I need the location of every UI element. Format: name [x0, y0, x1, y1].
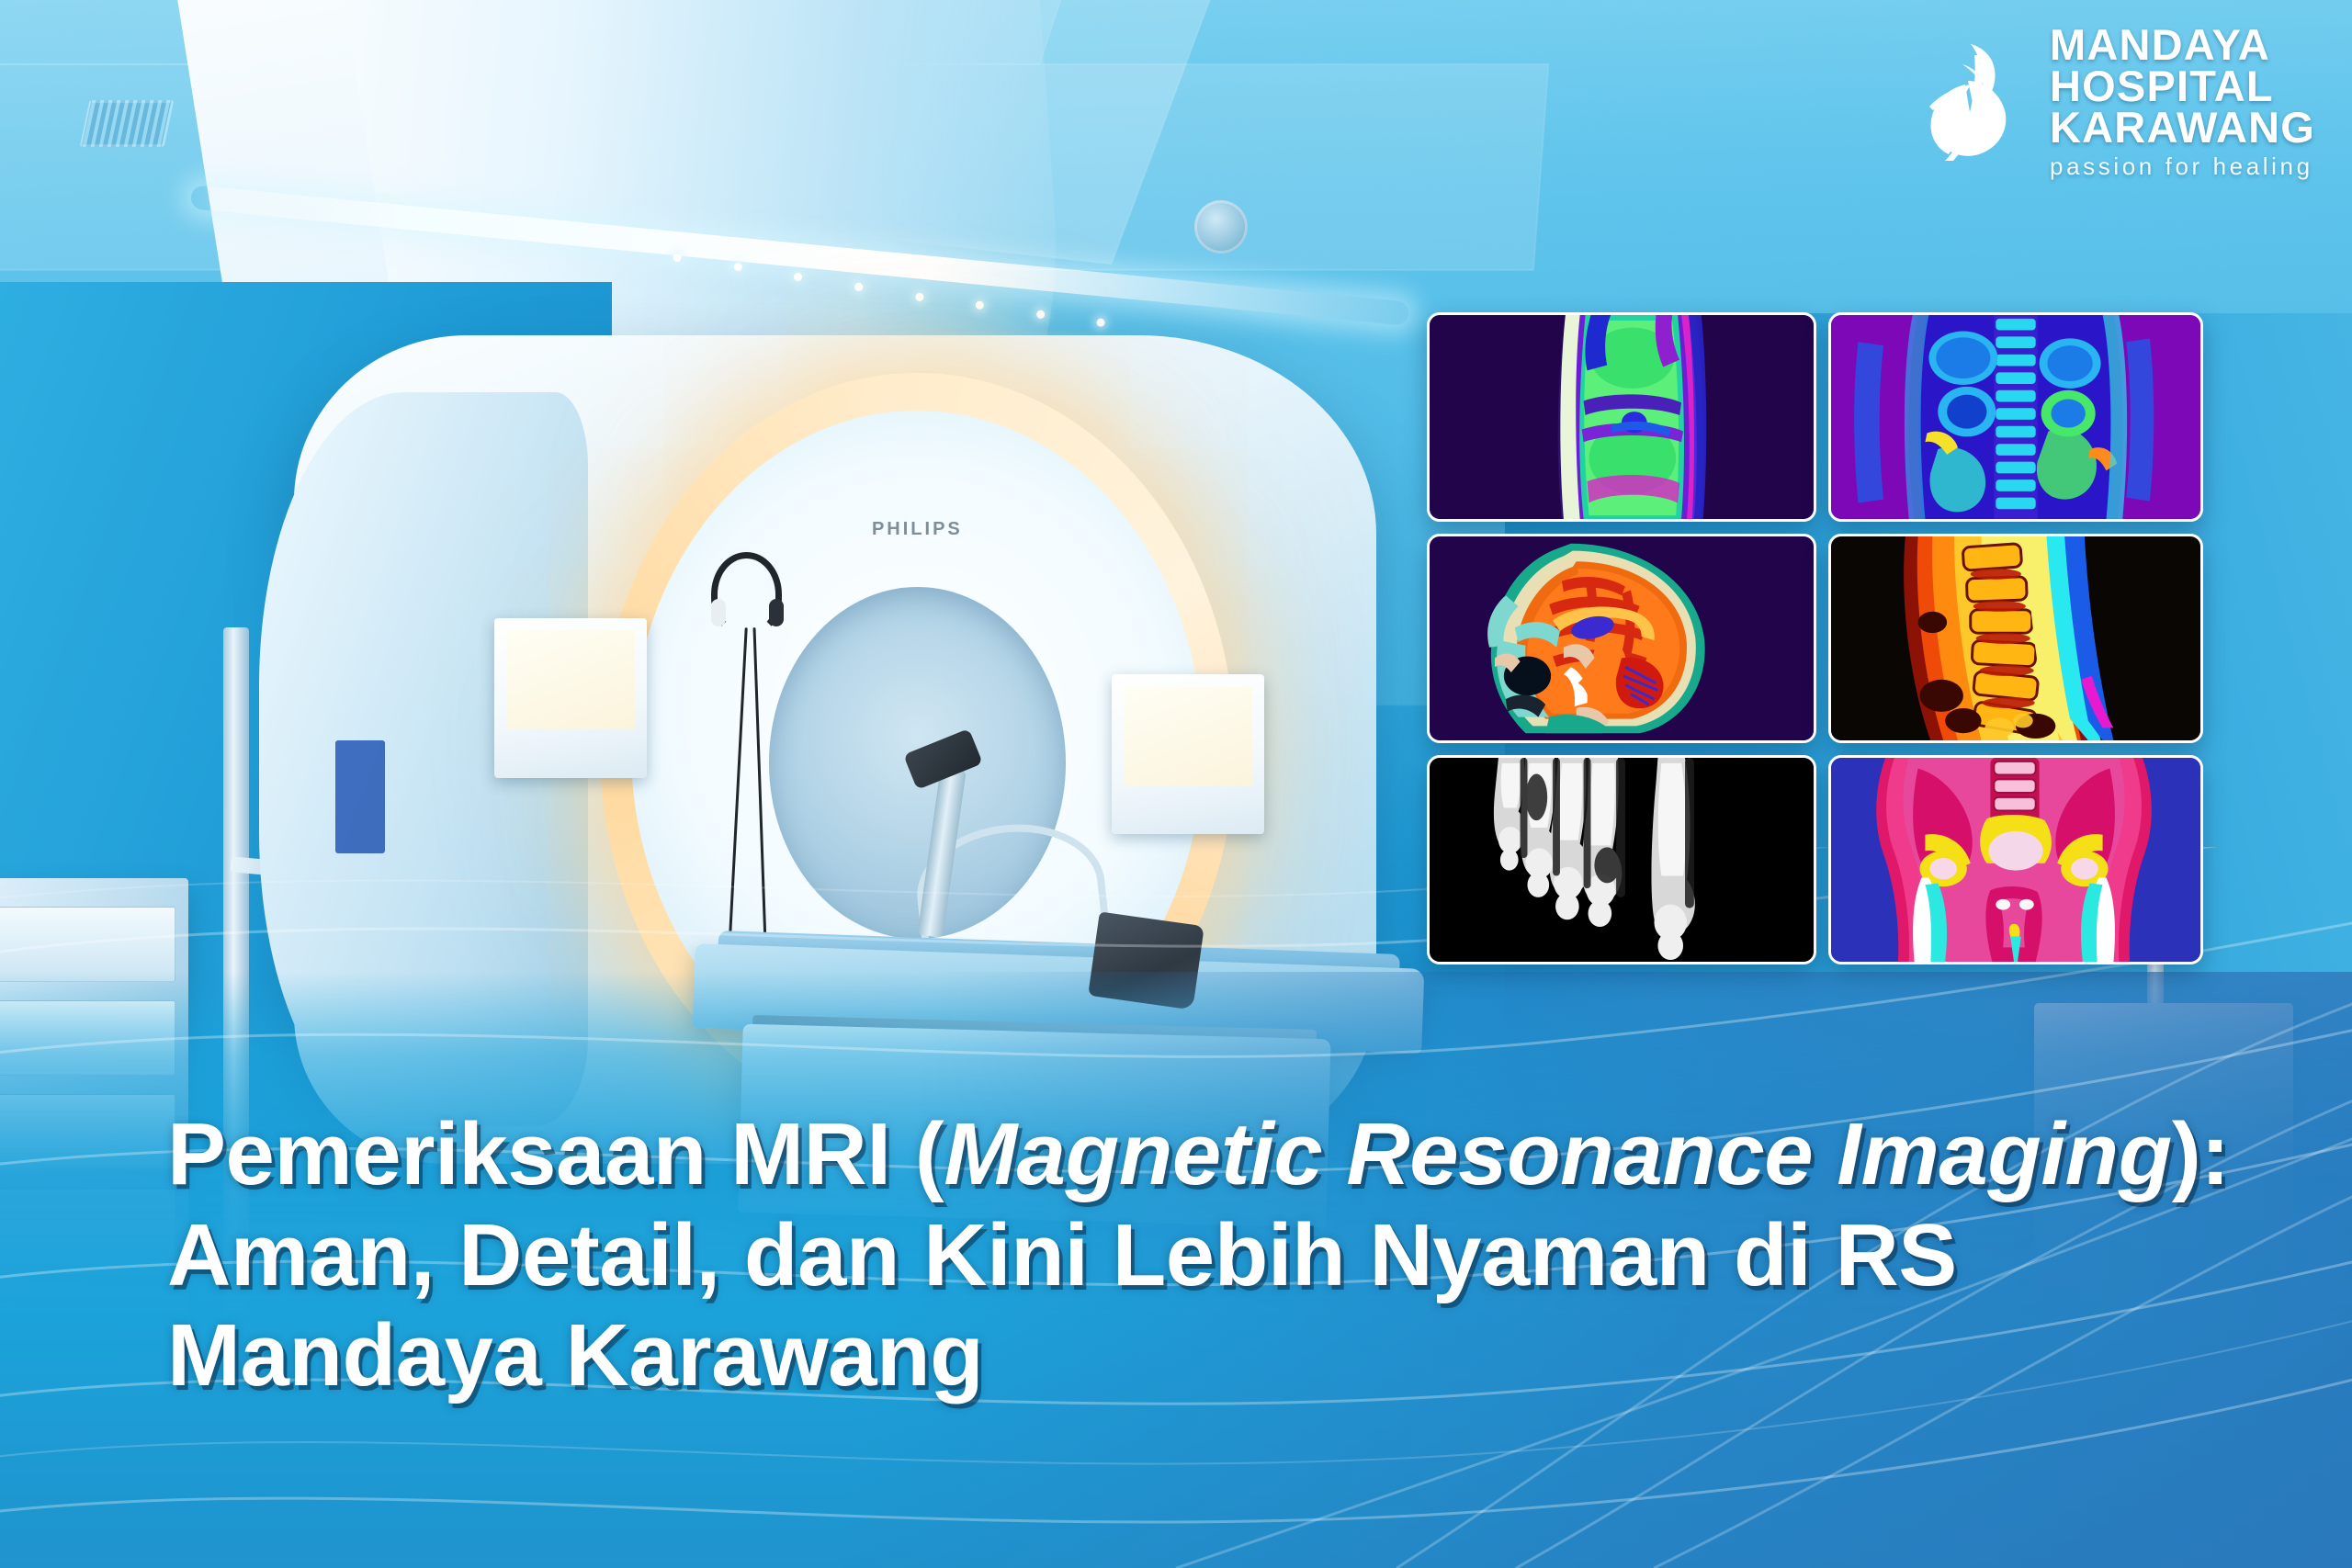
scanner-control-panel-right[interactable] [1112, 674, 1264, 834]
scan-thumbnail-abdomen[interactable] [1828, 312, 2203, 522]
abdomen-mri-image [1831, 315, 2200, 519]
scan-thumbnail-pelvis[interactable] [1828, 755, 2203, 964]
brand-line-1: MANDAYA [2050, 24, 2315, 65]
globe-cross-icon [1917, 40, 2026, 162]
scanner-control-panel-left[interactable] [494, 618, 647, 778]
scan-thumbnail-brain[interactable] [1427, 534, 1816, 743]
brand-tagline: passion for healing [2050, 155, 2315, 178]
promo-banner: PHILIPS [0, 0, 2352, 1568]
title-part-italic: Magnetic Resonance Imaging [944, 1105, 2172, 1203]
brand-logo-text: MANDAYA HOSPITAL KARAWANG passion for he… [2050, 24, 2315, 178]
title-part-1: Pemeriksaan MRI ( [167, 1105, 944, 1203]
foot-mri-image [1430, 758, 1814, 962]
scanner-blue-accent [335, 740, 385, 853]
mri-scan-gallery [1427, 312, 2203, 964]
scanner-brand-label: PHILIPS [872, 519, 963, 540]
scan-thumbnail-spine[interactable] [1828, 534, 2203, 743]
headphones-icon [711, 552, 782, 637]
scan-thumbnail-foot[interactable] [1427, 755, 1816, 964]
knee-mri-image [1430, 315, 1814, 519]
pelvis-mri-image [1831, 758, 2200, 962]
scan-thumbnail-knee[interactable] [1427, 312, 1816, 522]
air-vent-icon [80, 100, 175, 147]
brand-logo: MANDAYA HOSPITAL KARAWANG passion for he… [1917, 24, 2315, 178]
page-title: Pemeriksaan MRI (Magnetic Resonance Imag… [167, 1104, 2233, 1405]
brand-line-2: HOSPITAL [2050, 65, 2315, 107]
spine-mri-image [1831, 536, 2200, 740]
brain-mri-image [1430, 536, 1814, 740]
brand-line-3: KARAWANG [2050, 107, 2315, 148]
